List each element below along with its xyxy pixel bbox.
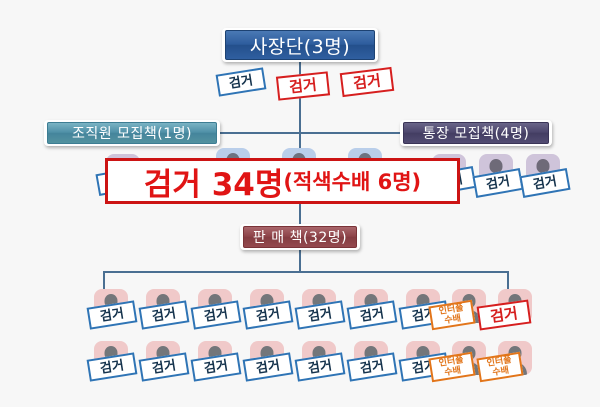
headline-red-notice-count: (적색수배 6명): [283, 166, 421, 196]
stamp-interpol-line2: 수배: [444, 314, 462, 327]
connector-sales-bracket-horizontal: [103, 271, 509, 273]
stamp-interpol-line2: 수배: [444, 366, 462, 379]
connector-bracket-right-drop: [507, 271, 509, 289]
org-box-ceo-label: 사장단(3명): [225, 30, 375, 60]
org-box-member-recruiter[interactable]: 조직원 모집책(1명): [44, 120, 220, 146]
connector-sales-vertical: [299, 250, 301, 272]
org-box-account-recruiter[interactable]: 통장 모집책(4명): [400, 120, 552, 146]
connector-recruiters-horizontal: [218, 132, 404, 134]
connector-bracket-left-drop: [103, 271, 105, 289]
stamp-arrest-ceo-3: 검거: [340, 67, 395, 97]
org-box-sales-label: 판 매 책(32명): [243, 226, 357, 248]
org-box-ceo[interactable]: 사장단(3명): [222, 28, 378, 62]
stamp-arrest-ceo-2: 검거: [276, 71, 330, 100]
org-box-member-recruiter-label: 조직원 모집책(1명): [47, 122, 217, 144]
headline-banner: 검거 34명(적색수배 6명): [105, 158, 460, 204]
stamp-interpol-line2: 수배: [492, 366, 510, 379]
org-box-account-recruiter-label: 통장 모집책(4명): [403, 122, 549, 144]
headline-arrest-count: 검거 34명: [144, 159, 284, 204]
stamp-arrest-ceo-1: 검거: [216, 67, 267, 96]
org-box-sales[interactable]: 판 매 책(32명): [240, 224, 360, 250]
org-chart-canvas: 사장단(3명) 검거 검거 검거 조직원 모집책(1명) 통장 모집책(4명) …: [0, 0, 600, 407]
